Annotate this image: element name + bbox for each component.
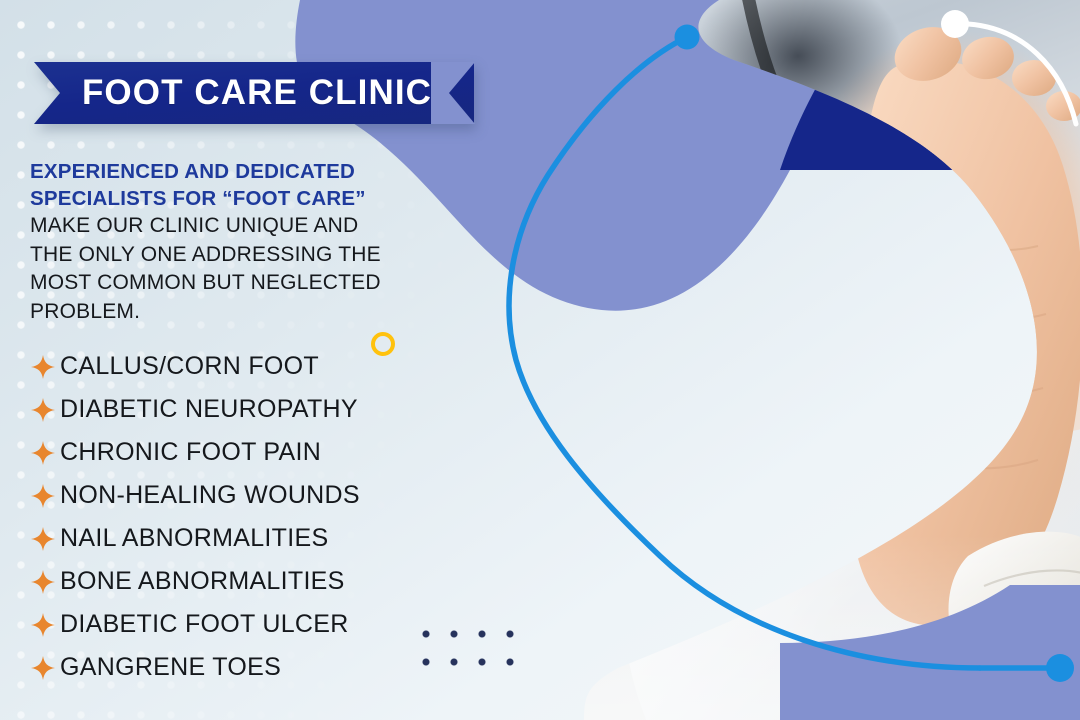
sparkle-star-icon [30, 612, 56, 638]
service-list-item-0[interactable]: CALLUS/CORN FOOT [30, 345, 470, 388]
service-label: BONE ABNORMALITIES [60, 567, 345, 596]
service-label: NAIL ABNORMALITIES [60, 524, 328, 553]
sparkle-star-icon [30, 526, 56, 552]
service-list-item-7[interactable]: GANGRENE TOES [30, 646, 470, 689]
photo-sheen-overlay [498, 0, 1080, 720]
service-label: GANGRENE TOES [60, 653, 281, 682]
gloved-hands-illustration [498, 0, 1080, 720]
service-list-item-3[interactable]: NON-HEALING WOUNDS [30, 474, 470, 517]
clinician-foot-photo [498, 0, 1080, 720]
intro-copy-block: EXPERIENCED AND DEDICATED SPECIALISTS FO… [30, 158, 460, 326]
blue-node-bottom-right-icon [1046, 654, 1074, 682]
service-label: NON-HEALING WOUNDS [60, 481, 360, 510]
service-label: DIABETIC FOOT ULCER [60, 610, 349, 639]
clinic-photo-panel [498, 0, 1080, 720]
service-list-item-4[interactable]: NAIL ABNORMALITIES [30, 517, 470, 560]
service-list-item-6[interactable]: DIABETIC FOOT ULCER [30, 603, 470, 646]
intro-highlight-line-2: SPECIALISTS FOR “FOOT CARE” [30, 185, 460, 212]
sparkle-star-icon [30, 354, 56, 380]
sparkle-star-icon [30, 569, 56, 595]
intro-body-line-4: PROBLEM. [30, 298, 460, 327]
page-title: FOOT CARE CLINIC [34, 62, 474, 124]
service-label: DIABETIC NEUROPATHY [60, 395, 358, 424]
sparkle-star-icon [30, 483, 56, 509]
dot-grid-icon [410, 617, 534, 679]
white-node-top-right-icon [941, 10, 969, 38]
service-list-item-5[interactable]: BONE ABNORMALITIES [30, 560, 470, 603]
navy-corner-shape [720, 0, 1080, 170]
sparkle-star-icon [30, 655, 56, 681]
intro-body-line-3: MOST COMMON BUT NEGLECTED [30, 269, 460, 298]
sparkle-star-icon [30, 440, 56, 466]
service-list-item-1[interactable]: DIABETIC NEUROPATHY [30, 388, 470, 431]
ribbon-banner: FOOT CARE CLINIC [34, 62, 474, 124]
periwinkle-bottom-shape [780, 585, 1080, 720]
service-label: CALLUS/CORN FOOT [60, 352, 319, 381]
sparkle-star-icon [30, 397, 56, 423]
poster-canvas: FOOT CARE CLINIC EXPERIENCED AND DEDICAT… [0, 0, 1080, 720]
services-list: CALLUS/CORN FOOT DIABETIC NEUROPATHY CHR… [30, 345, 470, 689]
blue-node-top-icon [675, 25, 700, 50]
intro-body-line-2: THE ONLY ONE ADDRESSING THE [30, 241, 460, 270]
intro-highlight-line-1: EXPERIENCED AND DEDICATED [30, 158, 460, 185]
intro-body-line-1: MAKE OUR CLINIC UNIQUE AND [30, 212, 460, 241]
service-label: CHRONIC FOOT PAIN [60, 438, 321, 467]
service-list-item-2[interactable]: CHRONIC FOOT PAIN [30, 431, 470, 474]
